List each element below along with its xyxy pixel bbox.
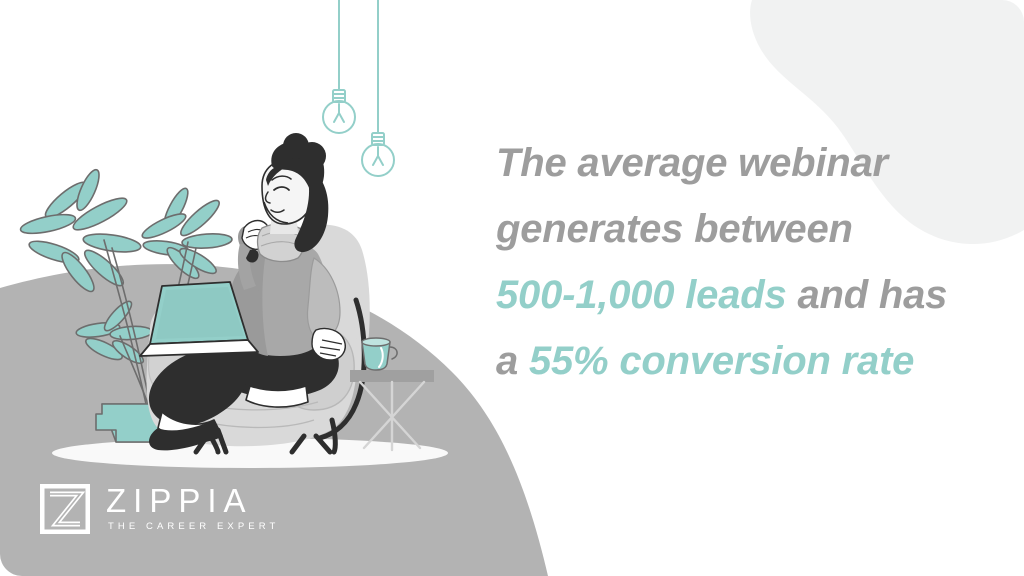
stat-conversion-rate: 55% conversion rate <box>529 339 914 383</box>
headline-line-3: 500-1,000 leads and has <box>496 262 996 328</box>
zippia-wordmark-block: ZIPPIA THE CAREER EXPERT <box>106 484 279 534</box>
headline-line-1: The average webinar <box>496 130 996 196</box>
stat-leads-range: 500-1,000 leads <box>496 273 787 317</box>
headline-line-4-lead: a <box>496 339 529 383</box>
headline-text: The average webinar generates between 50… <box>496 130 996 394</box>
coffee-mug-icon <box>362 338 397 370</box>
headline-line-3-tail: and has <box>787 273 948 317</box>
zippia-z-mark-icon <box>40 484 90 534</box>
zippia-wordmark: ZIPPIA <box>106 484 279 518</box>
side-table-icon <box>350 370 434 450</box>
headline-line-4: a 55% conversion rate <box>496 328 996 394</box>
headline-line-1-text: The average webinar <box>496 141 888 185</box>
zippia-logo[interactable]: ZIPPIA THE CAREER EXPERT <box>40 484 279 534</box>
headline-line-2-text: generates between <box>496 207 853 251</box>
headline-line-2: generates between <box>496 196 996 262</box>
zippia-tagline: THE CAREER EXPERT <box>108 520 279 534</box>
infographic-canvas: The average webinar generates between 50… <box>0 0 1024 576</box>
